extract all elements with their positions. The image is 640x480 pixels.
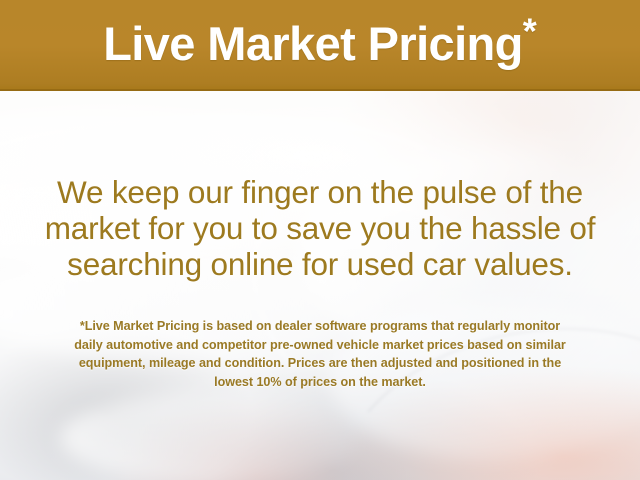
disclaimer-line-3: equipment, mileage and condition. Prices…: [0, 354, 640, 373]
page-title: Live Market Pricing*: [103, 20, 537, 67]
page-title-asterisk: *: [523, 10, 537, 51]
live-market-pricing-banner: Live Market Pricing* We keep our finger …: [0, 0, 640, 480]
content-area: We keep our finger on the pulse of the m…: [0, 91, 640, 480]
header-band: Live Market Pricing*: [0, 0, 640, 91]
headline: We keep our finger on the pulse of the m…: [0, 174, 640, 282]
page-title-text: Live Market Pricing: [103, 17, 523, 70]
headline-line-1: We keep our finger on the pulse of the: [0, 174, 640, 210]
disclaimer: *Live Market Pricing is based on dealer …: [0, 317, 640, 391]
headline-line-2: market for you to save you the hassle of: [0, 210, 640, 246]
disclaimer-line-1: *Live Market Pricing is based on dealer …: [0, 317, 640, 336]
headline-line-3: searching online for used car values.: [0, 246, 640, 282]
disclaimer-line-2: daily automotive and competitor pre-owne…: [0, 336, 640, 355]
disclaimer-line-4: lowest 10% of prices on the market.: [0, 373, 640, 392]
